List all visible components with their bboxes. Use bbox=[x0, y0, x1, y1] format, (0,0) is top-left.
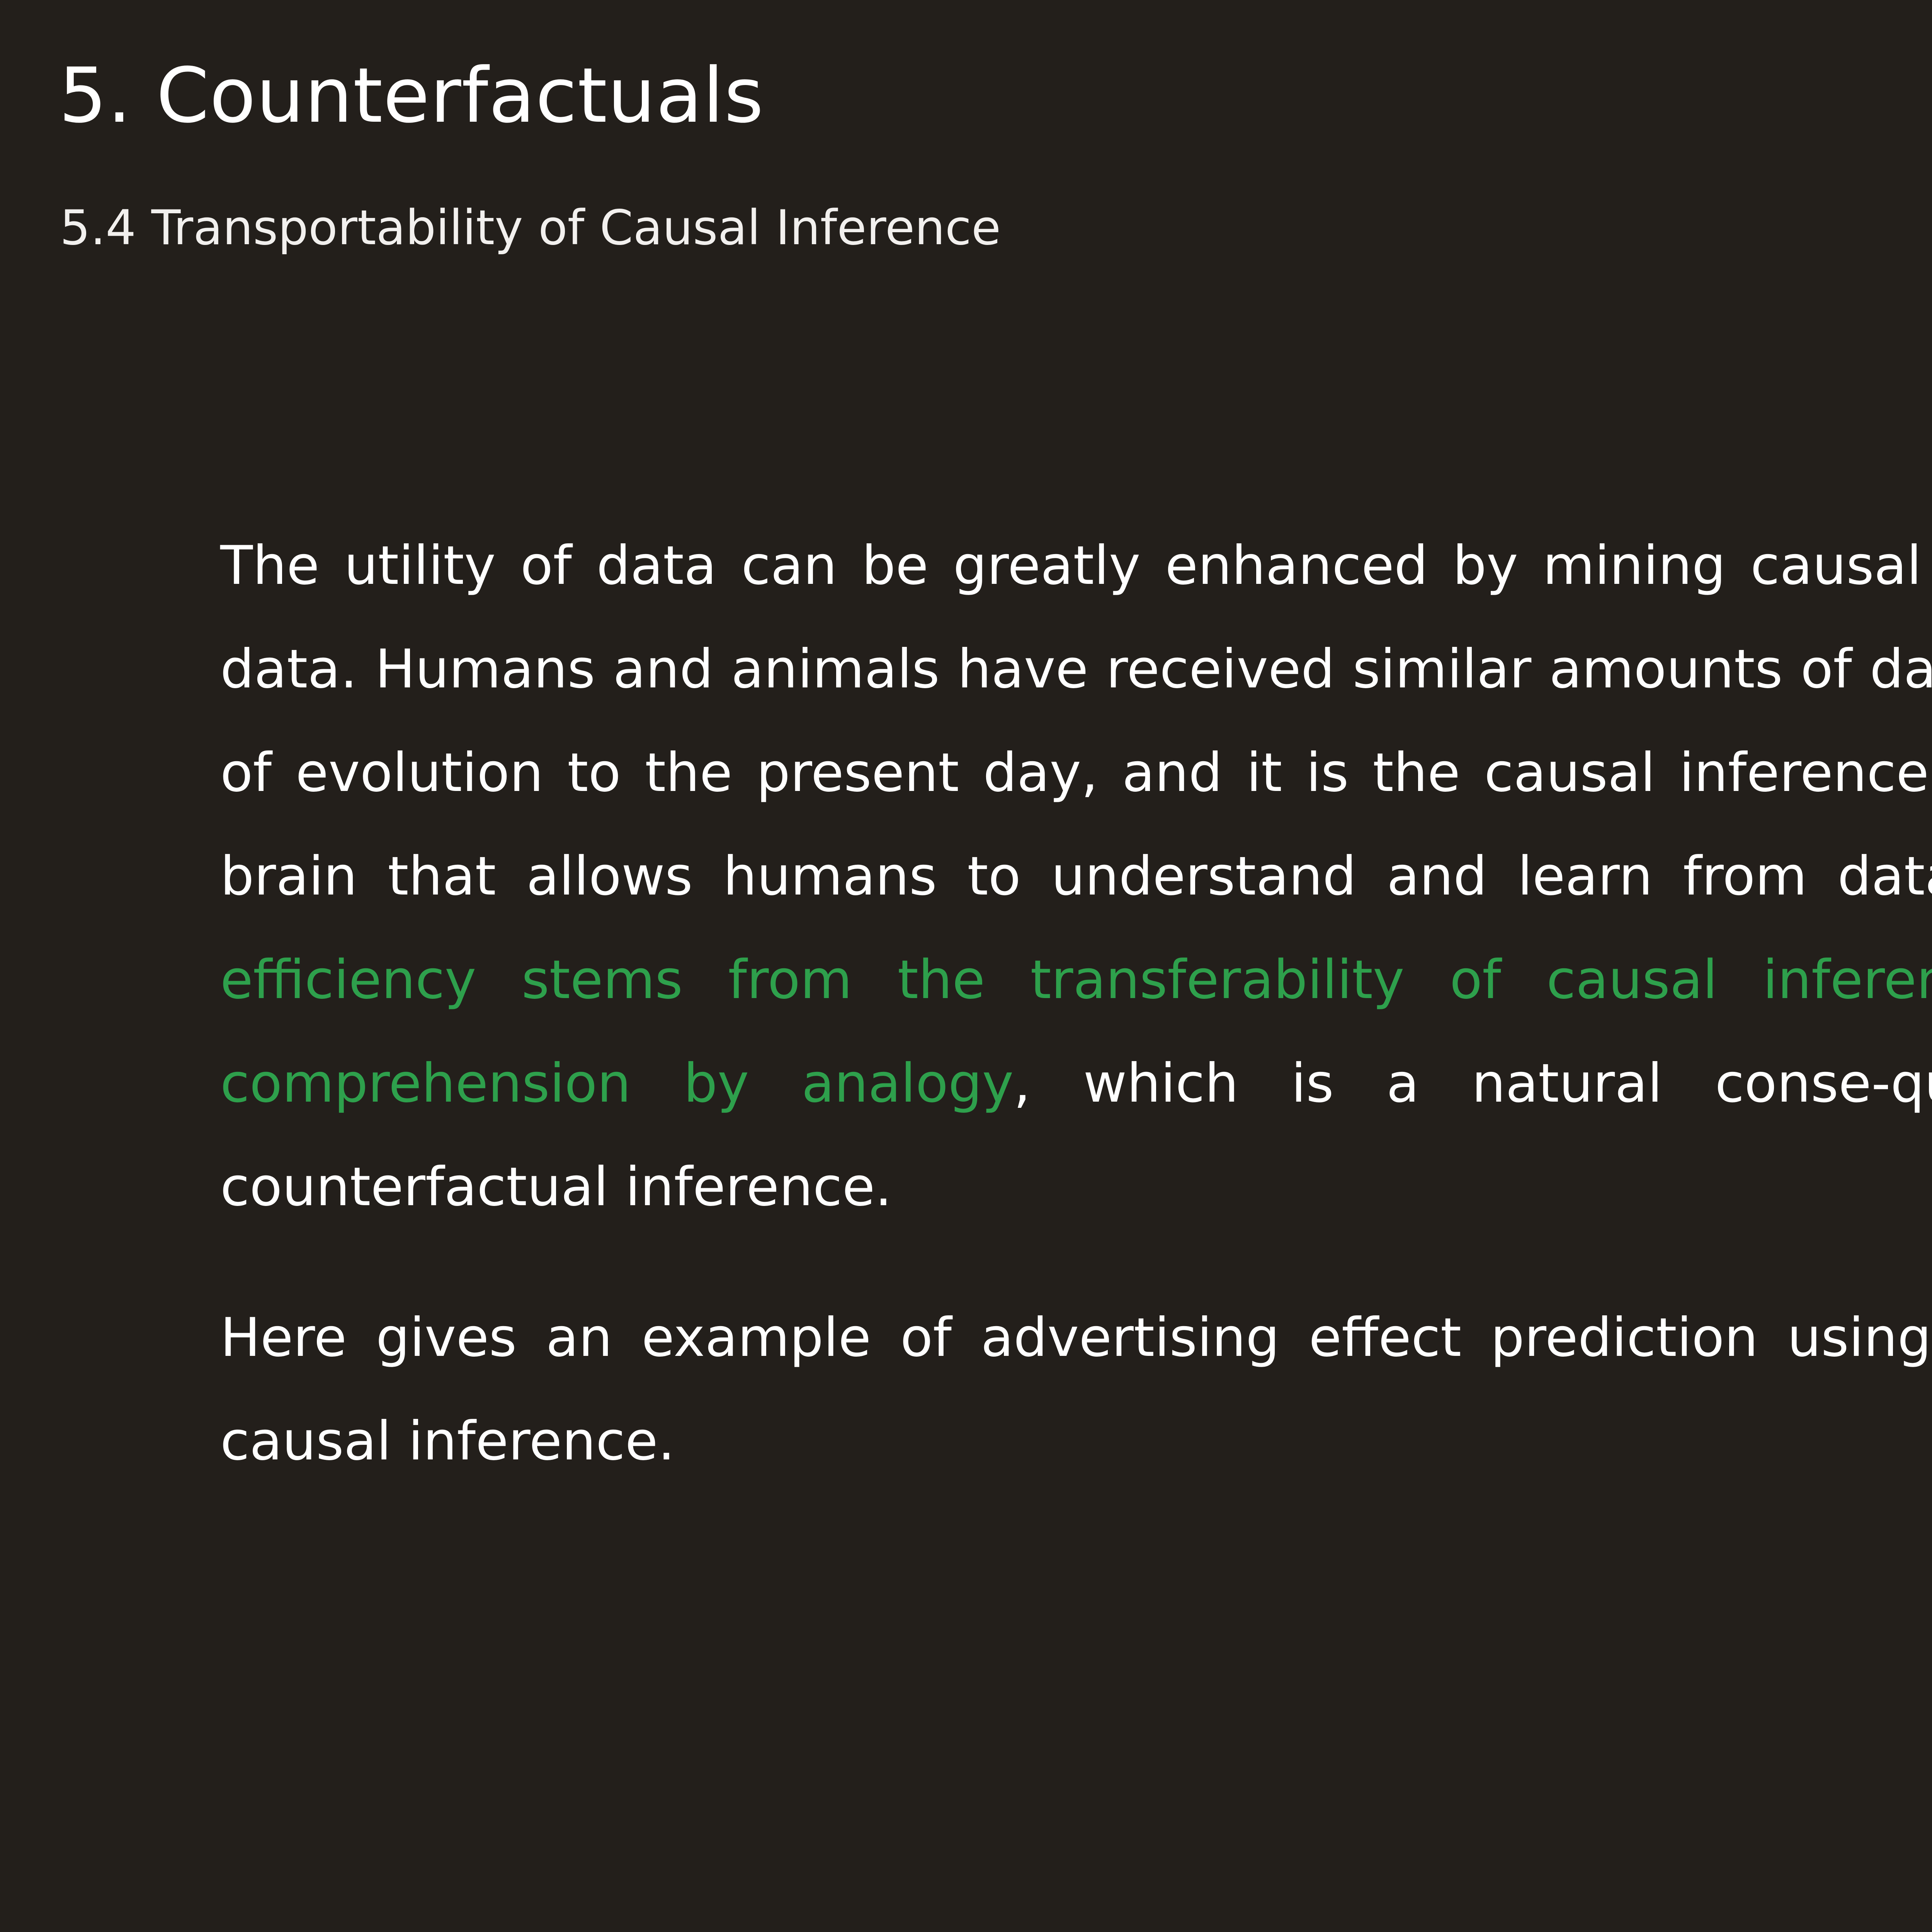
slide-content: The utility of data can be greatly enhan… bbox=[220, 514, 1932, 1493]
paragraph-1-part-1: The utility of data can be greatly enhan… bbox=[220, 534, 1932, 907]
paragraph-1: The utility of data can be greatly enhan… bbox=[220, 514, 1932, 1239]
slide-header: 5. Counterfactuals 5.4 Transportability … bbox=[0, 0, 1932, 317]
paragraph-2: Here gives an example of advertising eff… bbox=[220, 1286, 1932, 1493]
page-title: 5. Counterfactuals bbox=[59, 58, 764, 134]
page-subtitle: 5.4 Transportability of Causal Inference bbox=[60, 204, 1001, 252]
